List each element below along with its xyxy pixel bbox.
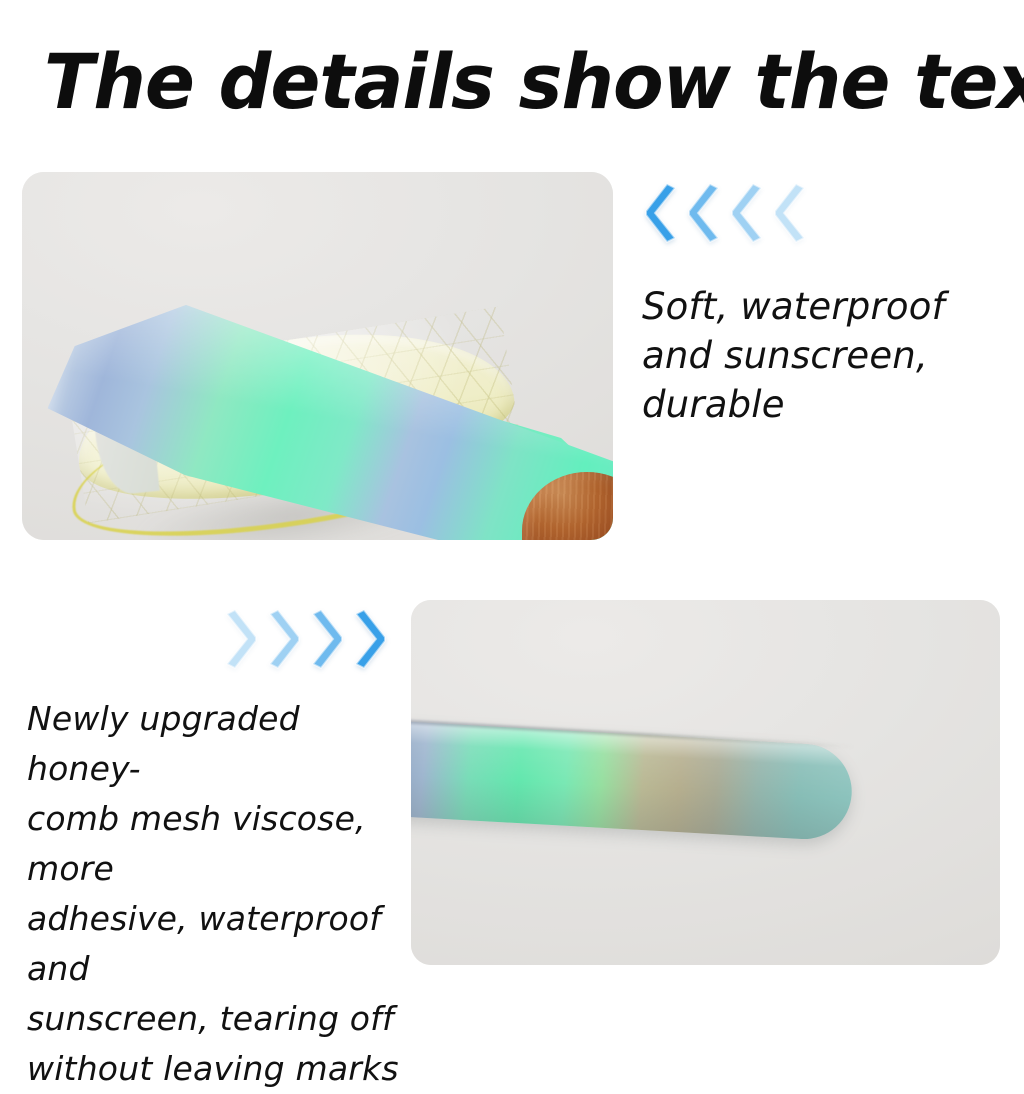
chevron-right-icon — [305, 608, 345, 670]
holographic-tape-strip-photo — [411, 600, 1000, 965]
holographic-tape-loop-photo — [22, 172, 613, 540]
chevrons-pointing-left — [643, 182, 812, 244]
chevron-left-icon — [643, 182, 683, 244]
caption-honeycomb-mesh: Newly upgraded honey- comb mesh viscose,… — [27, 694, 402, 1094]
page-title: The details show the texture — [44, 40, 966, 124]
chevron-right-icon — [262, 608, 302, 670]
infographic-page: The details show the texture Soft, water… — [0, 0, 1024, 1024]
chevron-left-icon — [729, 182, 769, 244]
chevron-right-icon — [348, 608, 388, 670]
chevron-left-icon — [772, 182, 812, 244]
caption-soft-waterproof: Soft, waterproof and sunscreen, durable — [642, 282, 1002, 429]
chevron-left-icon — [686, 182, 726, 244]
chevron-right-icon — [219, 608, 259, 670]
chevrons-pointing-right — [219, 608, 388, 670]
tape-loop-illustration — [22, 172, 613, 540]
